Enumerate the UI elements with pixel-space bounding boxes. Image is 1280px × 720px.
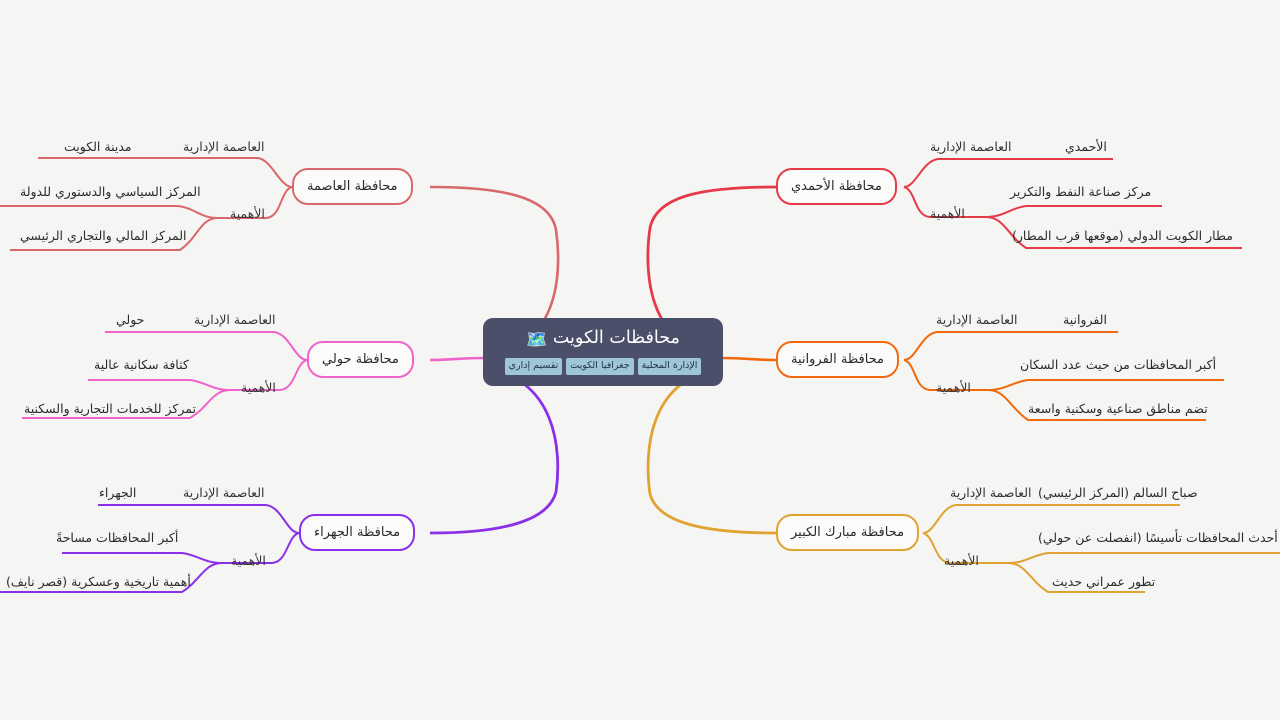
farwaniya-item-industrial-residential[interactable]: تضم مناطق صناعية وسكنية واسعة (1028, 401, 1208, 417)
branch-node-ahmadi[interactable]: محافظة الأحمدي (776, 168, 897, 205)
wire-ahmadi-fork (904, 159, 1030, 187)
jahra-item-historic-military[interactable]: أهمية تاريخية وعسكرية (قصر نايف) (6, 574, 191, 590)
branch-node-mubarak[interactable]: محافظة مبارك الكبير (776, 514, 919, 551)
branch-node-jahra[interactable]: محافظة الجهراء (299, 514, 415, 551)
wire-hawalli-fork (218, 332, 307, 360)
branch-node-hawalli[interactable]: محافظة حولي (307, 341, 414, 378)
wire-root-to-farwaniya (723, 358, 776, 360)
capital-item-financial-center[interactable]: المركز المالي والتجاري الرئيسي (20, 228, 187, 244)
mubarak-item-newest-governorate[interactable]: أحدث المحافظات تأسيسًا (انفصلت عن حولي) (1038, 530, 1278, 546)
wire-jahra-fork (214, 505, 299, 533)
branch-label-jahra: محافظة الجهراء (314, 525, 400, 540)
ahmadi-category-admin-capital[interactable]: العاصمة الإدارية (930, 139, 1012, 155)
branch-label-hawalli: محافظة حولي (322, 352, 399, 367)
wire-farwaniya-fork (904, 332, 1030, 360)
branch-label-ahmadi: محافظة الأحمدي (791, 179, 882, 194)
branch-node-capital[interactable]: محافظة العاصمة (292, 168, 413, 205)
wire-root-to-hawalli (430, 358, 483, 360)
mubarak-item-sabah-al-salem[interactable]: صباح السالم (المركز الرئيسي) (1038, 485, 1198, 501)
root-node[interactable]: محافظات الكويت 🗺️ الإدارة المحلية جغرافي… (483, 318, 723, 386)
wire-root-to-jahra (430, 368, 558, 533)
wire-jahra-imp-fork (62, 553, 222, 563)
ahmadi-item-ahmadi-city[interactable]: الأحمدي (1065, 139, 1107, 155)
root-tag-local-administration[interactable]: الإدارة المحلية (638, 358, 702, 375)
wire-mubarak-imp-fork (1008, 553, 1280, 563)
wire-capital-fork (197, 158, 292, 187)
mubarak-category-admin-capital[interactable]: العاصمة الإدارية (950, 485, 1032, 501)
hawalli-category-importance[interactable]: الأهمية (241, 380, 276, 396)
farwaniya-category-importance[interactable]: الأهمية (936, 380, 971, 396)
farwaniya-category-admin-capital[interactable]: العاصمة الإدارية (936, 312, 1018, 328)
jahra-item-largest-area[interactable]: أكبر المحافظات مساحةً (56, 530, 178, 546)
capital-item-political-center[interactable]: المركز السياسي والدستوري للدولة (20, 184, 201, 200)
hawalli-item-high-density[interactable]: كثافة سكانية عالية (94, 357, 189, 373)
ahmadi-category-importance[interactable]: الأهمية (930, 206, 965, 222)
farwaniya-item-largest-population[interactable]: أكبر المحافظات من حيث عدد السكان (1020, 357, 1216, 373)
branch-label-mubarak: محافظة مبارك الكبير (791, 525, 904, 540)
capital-item-kuwait-city[interactable]: مدينة الكويت (64, 139, 132, 155)
jahra-item-jahra-city[interactable]: الجهراء (99, 485, 136, 501)
ahmadi-item-airport[interactable]: مطار الكويت الدولي (موقعها قرب المطار) (1012, 228, 1233, 244)
map-icon: 🗺️ (526, 330, 547, 350)
branch-label-farwaniya: محافظة الفروانية (791, 352, 884, 367)
hawalli-category-admin-capital[interactable]: العاصمة الإدارية (194, 312, 276, 328)
mubarak-category-importance[interactable]: الأهمية (944, 553, 979, 569)
root-tag-administrative-division[interactable]: تقسيم إداري (505, 358, 563, 375)
wire-hawalli-imp-fork (88, 380, 230, 390)
capital-category-admin-capital[interactable]: العاصمة الإدارية (183, 139, 265, 155)
wire-root-to-mubarak (648, 368, 776, 533)
branch-label-capital: محافظة العاصمة (307, 179, 398, 194)
mindmap-canvas: محافظات الكويت 🗺️ الإدارة المحلية جغرافي… (0, 0, 1280, 720)
wire-ahmadi-imp-fork (986, 206, 1162, 217)
ahmadi-item-oil-refining[interactable]: مركز صناعة النفط والتكرير (1010, 184, 1151, 200)
capital-category-importance[interactable]: الأهمية (230, 206, 265, 222)
jahra-category-importance[interactable]: الأهمية (231, 553, 266, 569)
root-tag-kuwait-geography[interactable]: جغرافيا الكويت (566, 358, 633, 375)
mubarak-item-modern-development[interactable]: تطور عمراني حديث (1052, 574, 1155, 590)
root-tag-list: الإدارة المحلية جغرافيا الكويت تقسيم إدا… (497, 358, 709, 375)
wire-farwaniya-imp-fork (988, 380, 1224, 390)
branch-node-farwaniya[interactable]: محافظة الفروانية (776, 341, 899, 378)
root-title-text: محافظات الكويت (553, 328, 680, 348)
hawalli-item-hawalli-city[interactable]: حولي (116, 312, 144, 328)
wire-mubarak-fork (923, 505, 1030, 533)
farwaniya-item-farwaniya-city[interactable]: الفروانية (1063, 312, 1107, 328)
wire-capital-imp-fork (0, 206, 218, 218)
jahra-category-admin-capital[interactable]: العاصمة الإدارية (183, 485, 265, 501)
root-title: محافظات الكويت 🗺️ (497, 327, 709, 351)
hawalli-item-services-hub[interactable]: تمركز للخدمات التجارية والسكنية (24, 401, 196, 417)
